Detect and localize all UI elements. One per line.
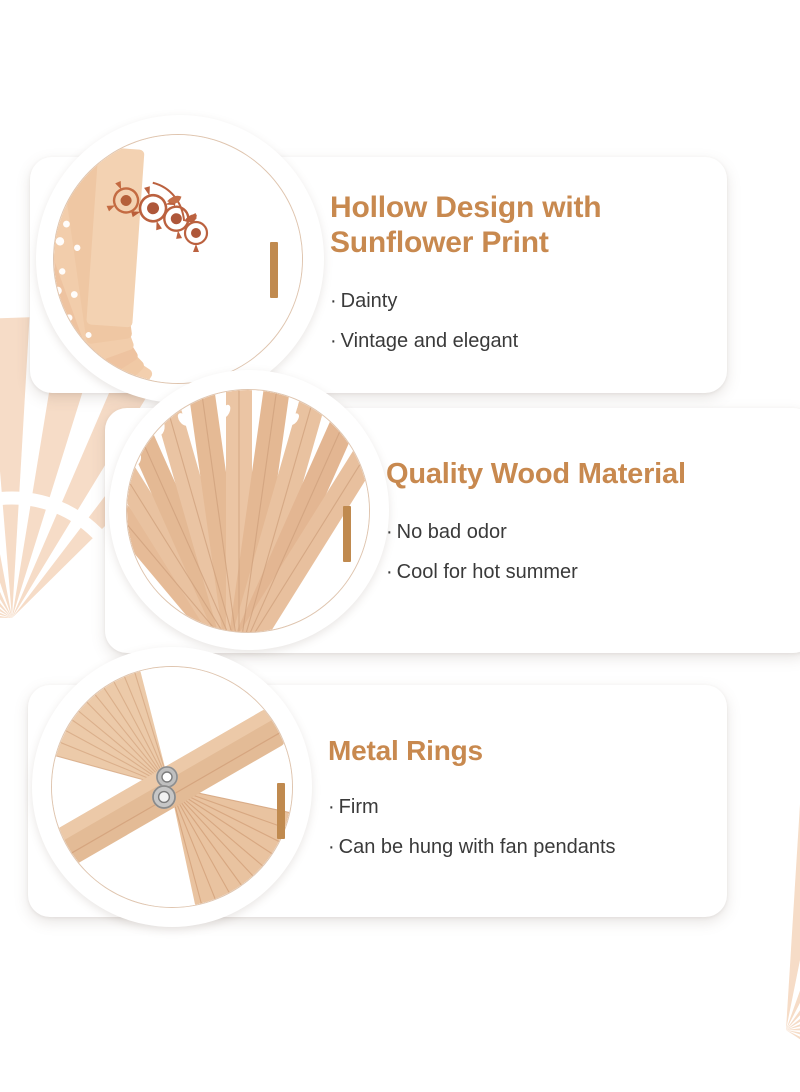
bullet-text: No bad odor [397,521,507,543]
feature-card-quality-wood[interactable]: Quality Wood Material ·No bad odor ·Cool… [105,408,800,653]
wooden-fan-ribs-illustration [127,390,369,632]
bullet-dot-icon: · [330,330,337,352]
bullet-text: Firm [339,796,379,818]
bullet-item: ·No bad odor [386,522,686,542]
accent-bar [277,783,285,839]
feature-image-hollow-design[interactable] [54,135,302,383]
bullet-item: ·Vintage and elegant [330,331,601,351]
bullet-dot-icon: · [328,796,335,818]
feature-image-metal-rings[interactable] [52,667,292,907]
bullet-dot-icon: · [330,290,337,312]
bullet-item: ·Dainty [330,291,601,311]
card-title: Metal Rings [328,735,616,767]
wooden-fans-metal-ring-illustration [52,667,292,907]
feature-card-hollow-design[interactable]: Hollow Design with Sunflower Print ·Dain… [30,157,727,393]
card-bullet-list: ·Dainty ·Vintage and elegant [330,291,601,351]
bullet-item: ·Firm [328,797,616,817]
bullet-text: Cool for hot summer [397,561,578,583]
bullet-item: ·Can be hung with fan pendants [328,837,616,857]
bullet-text: Vintage and elegant [341,330,519,352]
bullet-item: ·Cool for hot summer [386,562,686,582]
card-text-block: Quality Wood Material ·No bad odor ·Cool… [386,458,686,582]
card-text-block: Metal Rings ·Firm ·Can be hung with fan … [328,735,616,857]
accent-bar [270,242,278,298]
bullet-dot-icon: · [386,561,393,583]
hollow-carved-fan-illustration [54,135,302,383]
bullet-text: Dainty [341,290,398,312]
feature-card-metal-rings[interactable]: Metal Rings ·Firm ·Can be hung with fan … [28,685,727,917]
bullet-dot-icon: · [386,521,393,543]
card-bullet-list: ·No bad odor ·Cool for hot summer [386,522,686,582]
card-title: Quality Wood Material [386,458,686,492]
infographic-stage: Hollow Design with Sunflower Print ·Dain… [0,0,800,1092]
card-bullet-list: ·Firm ·Can be hung with fan pendants [328,797,616,857]
accent-bar [343,506,351,562]
bullet-text: Can be hung with fan pendants [339,836,616,858]
card-text-block: Hollow Design with Sunflower Print ·Dain… [330,191,601,351]
bullet-dot-icon: · [328,836,335,858]
card-title: Hollow Design with Sunflower Print [330,191,601,261]
feature-image-quality-wood[interactable] [127,390,369,632]
